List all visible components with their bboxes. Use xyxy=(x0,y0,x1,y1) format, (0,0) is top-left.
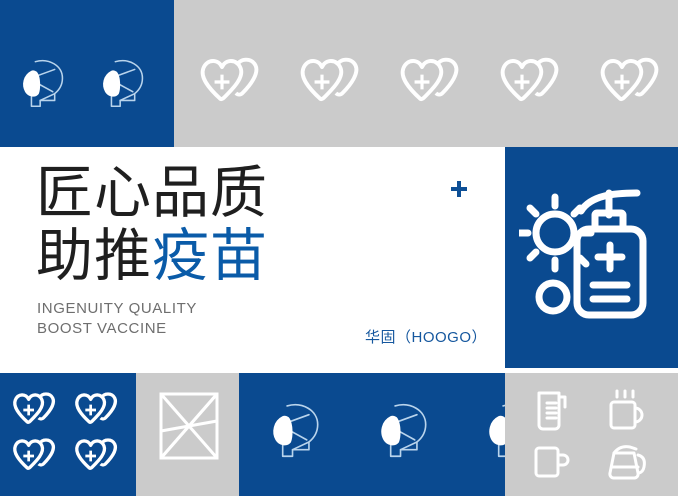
masked-face-icon xyxy=(371,395,441,465)
crossed-box-panel xyxy=(136,373,239,496)
masked-face-icon xyxy=(479,395,505,465)
double-heart-plus-icon xyxy=(196,54,274,110)
sanitizer-illustration xyxy=(519,187,665,337)
double-heart-plus-icon xyxy=(396,54,474,110)
drinkware-icon-grid xyxy=(531,389,651,485)
drinkware-panel xyxy=(505,373,678,496)
beaker-icon xyxy=(531,389,577,433)
mug-icon xyxy=(531,441,577,485)
steaming-cup-icon xyxy=(605,389,651,433)
masked-face-icon-row-bottom xyxy=(263,395,505,465)
sanitizer-bottle-icon xyxy=(577,193,643,315)
brand-name: 华固（HOOGO） xyxy=(365,326,487,347)
medical-plus-icon xyxy=(449,179,469,199)
double-heart-icon-grid xyxy=(10,389,128,477)
subtitle-text: INGENUITY QUALITY BOOST VACCINE xyxy=(37,299,197,340)
headline-panel: 匠心品质 助推疫苗 INGENUITY QUALITY BOOST VACCIN… xyxy=(0,147,505,368)
double-heart-panel-bottom xyxy=(0,373,136,496)
sanitizer-panel xyxy=(505,147,678,368)
masked-face-panel-top xyxy=(0,0,174,147)
double-heart-plus-icon xyxy=(72,435,128,477)
masked-face-icon xyxy=(94,52,156,114)
double-heart-plus-icon xyxy=(296,54,374,110)
double-heart-plus-icon xyxy=(10,389,66,431)
double-heart-panel-top xyxy=(174,0,678,147)
masked-face-icon xyxy=(263,395,333,465)
masked-face-icon xyxy=(14,52,76,114)
masked-face-panel-bottom xyxy=(239,373,505,496)
double-heart-plus-icon xyxy=(496,54,574,110)
germ-dot-icon xyxy=(539,283,567,311)
teapot-icon xyxy=(605,441,651,485)
headline-line-2-accent: 疫苗 xyxy=(152,224,268,288)
headline-line-1: 匠心品质 xyxy=(36,165,268,222)
double-heart-icon-row xyxy=(196,54,674,110)
masked-face-icon-row xyxy=(14,52,156,114)
headline-line-2-plain: 助推 xyxy=(36,224,152,288)
double-heart-plus-icon xyxy=(10,435,66,477)
headline-line-2: 助推疫苗 xyxy=(36,228,268,285)
poster-canvas: 匠心品质 助推疫苗 INGENUITY QUALITY BOOST VACCIN… xyxy=(0,0,678,496)
page-title: 匠心品质 助推疫苗 xyxy=(36,165,268,285)
double-heart-plus-icon xyxy=(596,54,674,110)
double-heart-plus-icon xyxy=(72,389,128,431)
crossed-box-icon xyxy=(158,391,220,461)
